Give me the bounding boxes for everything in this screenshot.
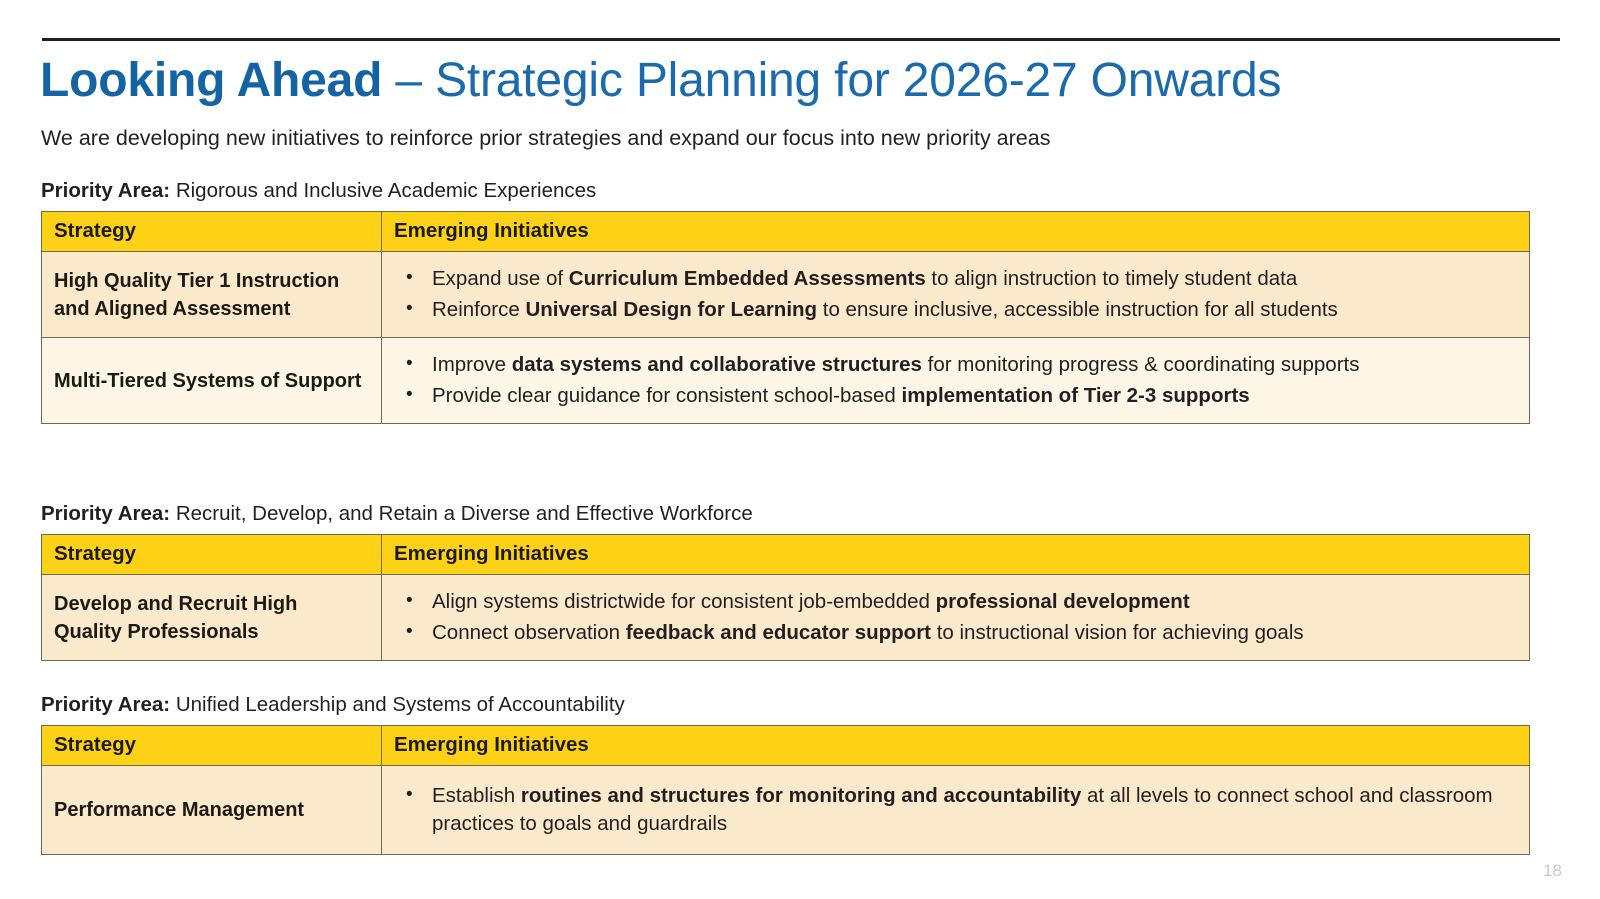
slide-canvas: Looking Ahead – Strategic Planning for 2… <box>0 0 1600 899</box>
initiative-text: Improve <box>432 353 512 376</box>
initiative-emphasis: routines and structures for monitoring a… <box>521 784 1081 807</box>
priority-area-heading: Priority Area: Unified Leadership and Sy… <box>41 692 1529 718</box>
priority-section-1: Priority Area: Recruit, Develop, and Ret… <box>41 501 1529 661</box>
initiative-bullet: Reinforce Universal Design for Learning … <box>390 296 1519 324</box>
strategy-table: StrategyEmerging InitiativesDevelop and … <box>41 534 1530 661</box>
column-header-initiatives: Emerging Initiatives <box>382 212 1530 252</box>
priority-area-heading: Priority Area: Recruit, Develop, and Ret… <box>41 501 1529 527</box>
page-subtitle: We are developing new initiatives to rei… <box>41 124 1050 152</box>
strategy-cell: High Quality Tier 1 Instruction and Alig… <box>42 252 382 338</box>
priority-area-label: Priority Area: <box>41 502 170 525</box>
strategy-table: StrategyEmerging InitiativesHigh Quality… <box>41 211 1530 424</box>
initiative-bullet: Expand use of Curriculum Embedded Assess… <box>390 265 1519 293</box>
priority-area-label: Priority Area: <box>41 179 170 202</box>
initiative-text: to ensure inclusive, accessible instruct… <box>817 298 1338 321</box>
priority-section-2: Priority Area: Unified Leadership and Sy… <box>41 692 1529 855</box>
initiatives-list: Expand use of Curriculum Embedded Assess… <box>390 265 1519 324</box>
strategy-cell: Multi-Tiered Systems of Support <box>42 338 382 424</box>
table-header-row: StrategyEmerging Initiatives <box>42 212 1530 252</box>
priority-area-heading: Priority Area: Rigorous and Inclusive Ac… <box>41 178 1529 204</box>
strategy-table: StrategyEmerging InitiativesPerformance … <box>41 725 1530 855</box>
column-header-initiatives: Emerging Initiatives <box>382 726 1530 766</box>
initiative-emphasis: implementation of Tier 2-3 supports <box>902 384 1250 407</box>
table-header-row: StrategyEmerging Initiatives <box>42 535 1530 575</box>
initiatives-list: Establish routines and structures for mo… <box>390 782 1519 838</box>
table-row: Performance ManagementEstablish routines… <box>42 766 1530 855</box>
column-header-strategy: Strategy <box>42 535 382 575</box>
table-header-row: StrategyEmerging Initiatives <box>42 726 1530 766</box>
page-title: Looking Ahead – Strategic Planning for 2… <box>40 50 1560 112</box>
initiative-bullet: Connect observation feedback and educato… <box>390 619 1519 647</box>
priority-area-value: Rigorous and Inclusive Academic Experien… <box>170 179 596 202</box>
table-row: Multi-Tiered Systems of SupportImprove d… <box>42 338 1530 424</box>
initiative-text: Align systems districtwide for consisten… <box>432 590 936 613</box>
initiatives-cell: Establish routines and structures for mo… <box>382 766 1530 855</box>
header-rule <box>42 38 1560 41</box>
initiative-emphasis: Universal Design for Learning <box>525 298 817 321</box>
initiative-text: Reinforce <box>432 298 525 321</box>
initiative-bullet: Provide clear guidance for consistent sc… <box>390 382 1519 410</box>
priority-area-label: Priority Area: <box>41 693 170 716</box>
column-header-initiatives: Emerging Initiatives <box>382 535 1530 575</box>
column-header-strategy: Strategy <box>42 726 382 766</box>
initiative-bullet: Establish routines and structures for mo… <box>390 782 1519 838</box>
strategy-cell: Develop and Recruit High Quality Profess… <box>42 575 382 661</box>
page-title-bold: Looking Ahead <box>40 54 382 107</box>
initiative-bullet: Align systems districtwide for consisten… <box>390 588 1519 616</box>
initiatives-cell: Improve data systems and collaborative s… <box>382 338 1530 424</box>
initiative-text: Connect observation <box>432 621 626 644</box>
initiative-text: Expand use of <box>432 267 569 290</box>
initiative-text: for monitoring progress & coordinating s… <box>922 353 1360 376</box>
initiatives-cell: Align systems districtwide for consisten… <box>382 575 1530 661</box>
priority-area-value: Unified Leadership and Systems of Accoun… <box>170 693 625 716</box>
initiatives-cell: Expand use of Curriculum Embedded Assess… <box>382 252 1530 338</box>
priority-area-value: Recruit, Develop, and Retain a Diverse a… <box>170 502 753 525</box>
page-number: 18 <box>1543 861 1562 881</box>
strategy-cell: Performance Management <box>42 766 382 855</box>
initiative-emphasis: professional development <box>936 590 1190 613</box>
initiative-emphasis: Curriculum Embedded Assessments <box>569 267 926 290</box>
page-title-rest: – Strategic Planning for 2026-27 Onwards <box>382 54 1281 107</box>
initiative-bullet: Improve data systems and collaborative s… <box>390 351 1519 379</box>
initiative-text: Establish <box>432 784 521 807</box>
initiative-emphasis: feedback and educator support <box>626 621 931 644</box>
initiatives-list: Improve data systems and collaborative s… <box>390 351 1519 410</box>
column-header-strategy: Strategy <box>42 212 382 252</box>
initiatives-list: Align systems districtwide for consisten… <box>390 588 1519 647</box>
priority-section-0: Priority Area: Rigorous and Inclusive Ac… <box>41 178 1529 424</box>
table-row: High Quality Tier 1 Instruction and Alig… <box>42 252 1530 338</box>
initiative-text: to instructional vision for achieving go… <box>931 621 1304 644</box>
initiative-text: to align instruction to timely student d… <box>926 267 1297 290</box>
initiative-text: Provide clear guidance for consistent sc… <box>432 384 902 407</box>
table-row: Develop and Recruit High Quality Profess… <box>42 575 1530 661</box>
initiative-emphasis: data systems and collaborative structure… <box>512 353 922 376</box>
